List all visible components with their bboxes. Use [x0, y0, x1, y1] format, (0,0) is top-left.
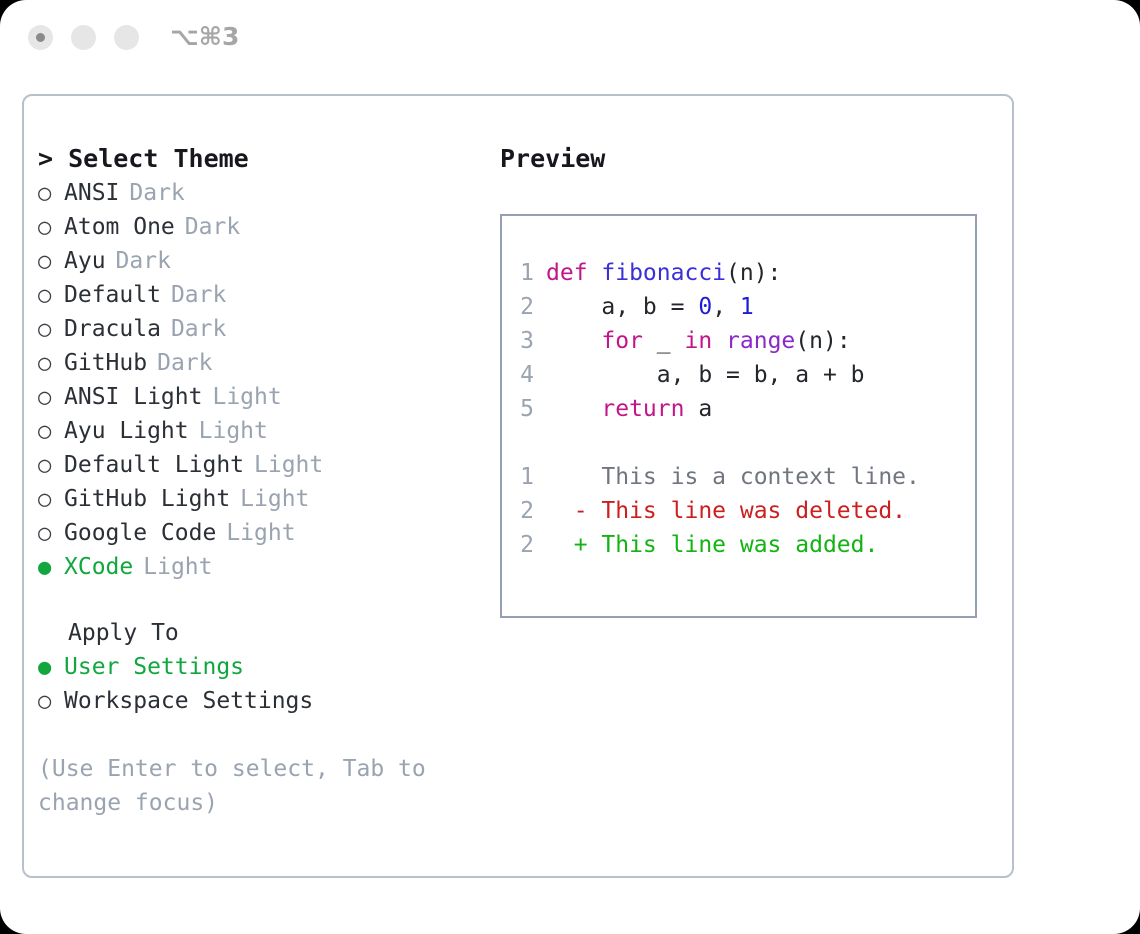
code-token-kw: for [601, 328, 643, 354]
code-token-punct: (n): [726, 260, 781, 286]
code-token-num: 0 [698, 294, 712, 320]
theme-variant-badge: Dark [161, 312, 226, 346]
code-token-fn: fibonacci [601, 260, 726, 286]
theme-option-label: Ayu Light [64, 414, 189, 448]
code-text: a, b = 0, 1 [546, 290, 754, 324]
radio-unselected-icon: ○ [38, 279, 64, 313]
radio-unselected-icon: ○ [38, 211, 64, 245]
radio-unselected-icon: ○ [38, 483, 64, 517]
diff-text: This is a context line. [546, 460, 920, 494]
line-number: 2 [502, 494, 546, 528]
theme-variant-badge: Light [202, 380, 281, 414]
code-token-kw: return [601, 396, 684, 422]
theme-option-github[interactable]: ○GitHubDark [38, 346, 478, 380]
radio-unselected-icon: ○ [38, 381, 64, 415]
theme-variant-badge: Light [230, 482, 309, 516]
line-number: 2 [502, 528, 546, 562]
code-token-num: 1 [740, 294, 754, 320]
radio-selected-icon: ● [38, 551, 64, 585]
preview-column: Preview 1def fibonacci(n):2 a, b = 0, 13… [500, 142, 1000, 618]
radio-unselected-icon: ○ [38, 313, 64, 347]
theme-option-default-light[interactable]: ○Default LightLight [38, 448, 478, 482]
apply-to-list: ●User Settings○Workspace Settings [38, 650, 478, 718]
radio-unselected-icon: ○ [38, 177, 64, 211]
code-token-plain [546, 328, 601, 354]
radio-unselected-icon: ○ [38, 245, 64, 279]
radio-selected-icon: ● [38, 651, 64, 685]
radio-unselected-icon: ○ [38, 449, 64, 483]
code-text: return a [546, 392, 712, 426]
theme-option-label: Atom One [64, 210, 175, 244]
code-token-plain [546, 396, 601, 422]
window-dot-icon-2[interactable] [71, 25, 96, 50]
code-line: 2 a, b = 0, 1 [502, 290, 975, 324]
preview-box: 1def fibonacci(n):2 a, b = 0, 13 for _ i… [500, 214, 977, 618]
line-number: 1 [502, 256, 546, 290]
theme-option-default[interactable]: ○DefaultDark [38, 278, 478, 312]
apply-to-option-label: Workspace Settings [64, 684, 313, 718]
radio-unselected-icon: ○ [38, 685, 64, 719]
code-text: a, b = b, a + b [546, 358, 865, 392]
theme-variant-badge: Dark [106, 244, 171, 278]
diff-line-del: 2 - This line was deleted. [502, 494, 975, 528]
code-line: 5 return a [502, 392, 975, 426]
theme-option-label: Dracula [64, 312, 161, 346]
code-token-builtin: range [726, 328, 795, 354]
app-window: ⌥⌘3 > Select Theme ○ANSIDark○Atom OneDar… [0, 0, 1140, 934]
window-controls [28, 25, 139, 50]
theme-variant-badge: Light [216, 516, 295, 550]
theme-option-github-light[interactable]: ○GitHub LightLight [38, 482, 478, 516]
theme-list: ○ANSIDark○Atom OneDark○AyuDark○DefaultDa… [38, 176, 478, 584]
code-token-kw: in [684, 328, 712, 354]
theme-option-label: Ayu [64, 244, 106, 278]
apply-to-label: Apply To [38, 616, 478, 650]
code-token-plain: _ [643, 328, 685, 354]
code-token-plain: a [684, 396, 712, 422]
spacer [502, 426, 975, 460]
line-number: 4 [502, 358, 546, 392]
theme-option-label: ANSI [64, 176, 119, 210]
theme-option-xcode[interactable]: ●XCodeLight [38, 550, 478, 584]
theme-option-label: Default Light [64, 448, 244, 482]
radio-unselected-icon: ○ [38, 415, 64, 449]
spacer [38, 584, 478, 616]
theme-variant-badge: Dark [119, 176, 184, 210]
apply-to-option-workspace-settings[interactable]: ○Workspace Settings [38, 684, 478, 718]
content-panel: > Select Theme ○ANSIDark○Atom OneDark○Ay… [22, 94, 1014, 878]
theme-option-label: Google Code [64, 516, 216, 550]
window-dot-icon-3[interactable] [114, 25, 139, 50]
theme-picker-column: > Select Theme ○ANSIDark○Atom OneDark○Ay… [38, 142, 478, 820]
apply-to-option-label: User Settings [64, 650, 244, 684]
theme-option-label: GitHub Light [64, 482, 230, 516]
theme-option-label: ANSI Light [64, 380, 202, 414]
preview-heading: Preview [500, 142, 1000, 176]
keyboard-hint: (Use Enter to select, Tab to change focu… [38, 752, 438, 820]
radio-unselected-icon: ○ [38, 517, 64, 551]
select-theme-heading: > Select Theme [38, 142, 478, 176]
diff-line-add: 2 + This line was added. [502, 528, 975, 562]
line-number: 5 [502, 392, 546, 426]
diff-line-context: 1 This is a context line. [502, 460, 975, 494]
code-text: for _ in range(n): [546, 324, 851, 358]
theme-option-google-code[interactable]: ○Google CodeLight [38, 516, 478, 550]
code-token-plain [712, 328, 726, 354]
theme-option-ayu[interactable]: ○AyuDark [38, 244, 478, 278]
diff-sample: 1 This is a context line.2 - This line w… [502, 460, 975, 562]
theme-variant-badge: Dark [161, 278, 226, 312]
theme-variant-badge: Light [189, 414, 268, 448]
theme-option-label: XCode [64, 550, 133, 584]
window-dot-active-icon[interactable] [28, 25, 53, 50]
radio-unselected-icon: ○ [38, 347, 64, 381]
code-token-punct: (n): [795, 328, 850, 354]
theme-option-ayu-light[interactable]: ○Ayu LightLight [38, 414, 478, 448]
code-token-plain: a, b = [546, 294, 698, 320]
diff-text: - This line was deleted. [546, 494, 906, 528]
theme-variant-badge: Dark [175, 210, 240, 244]
line-number: 2 [502, 290, 546, 324]
code-token-kw: def [546, 260, 601, 286]
code-line: 1def fibonacci(n): [502, 256, 975, 290]
line-number: 1 [502, 460, 546, 494]
theme-variant-badge: Light [133, 550, 212, 584]
theme-option-dracula[interactable]: ○DraculaDark [38, 312, 478, 346]
code-sample: 1def fibonacci(n):2 a, b = 0, 13 for _ i… [502, 256, 975, 426]
code-token-plain: a, b = b, a + b [546, 362, 865, 388]
code-line: 4 a, b = b, a + b [502, 358, 975, 392]
line-number: 3 [502, 324, 546, 358]
title-bar: ⌥⌘3 [0, 0, 1140, 78]
keyboard-shortcut-label: ⌥⌘3 [170, 22, 239, 51]
theme-variant-badge: Light [244, 448, 323, 482]
theme-option-label: Default [64, 278, 161, 312]
apply-to-option-user-settings[interactable]: ●User Settings [38, 650, 478, 684]
code-token-plain: , [712, 294, 740, 320]
code-text: def fibonacci(n): [546, 256, 781, 290]
diff-text: + This line was added. [546, 528, 878, 562]
code-line: 3 for _ in range(n): [502, 324, 975, 358]
theme-variant-badge: Dark [147, 346, 212, 380]
theme-option-ansi[interactable]: ○ANSIDark [38, 176, 478, 210]
theme-option-label: GitHub [64, 346, 147, 380]
theme-option-atom-one[interactable]: ○Atom OneDark [38, 210, 478, 244]
theme-option-ansi-light[interactable]: ○ANSI LightLight [38, 380, 478, 414]
